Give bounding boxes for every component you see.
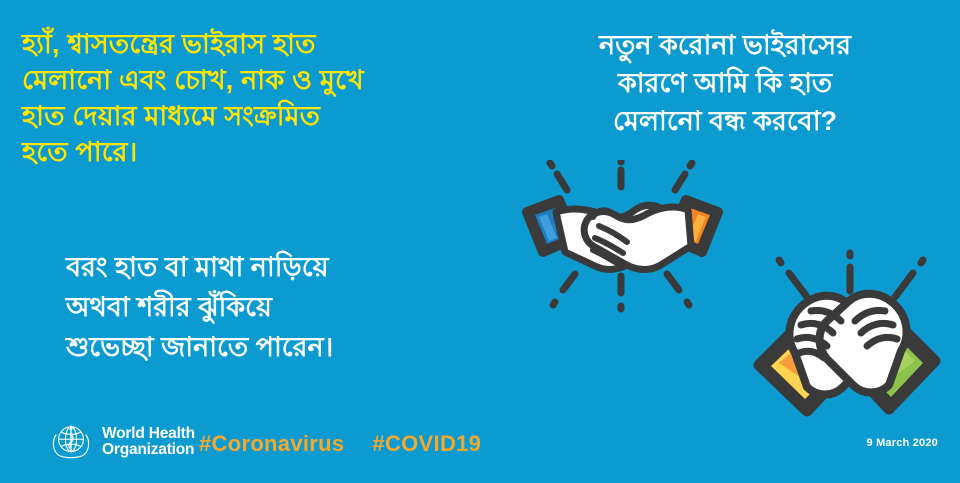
date-stamp: 9 March 2020 — [867, 437, 939, 449]
question-heading: নতুন করোনা ভাইরাসের কারণে আমি কি হাত মেল… — [500, 26, 950, 140]
who-wordmark-line-1: World Health — [102, 426, 195, 443]
answer-line-3: হাত দেয়ার মাধ্যমে সংক্রমিত — [22, 98, 472, 134]
handshake-icon — [515, 160, 730, 320]
hashtags: #Coronavirus #COVID19 — [199, 431, 481, 457]
who-wordmark: World Health Organization — [102, 426, 195, 459]
answer-line-2: মেলানো এবং চোখ, নাক ও মুখে — [22, 62, 472, 98]
advice-line-3: শুভেচ্ছা জানাতে পারেন। — [66, 327, 496, 367]
who-emblem-icon — [48, 419, 94, 465]
question-line-3: মেলানো বন্ধ করবো? — [500, 102, 950, 140]
answer-line-1: হ্যাঁ, শ্বাসতন্ত্রের ভাইরাস হাত — [22, 26, 472, 62]
who-covid-poster: হ্যাঁ, শ্বাসতন্ত্রের ভাইরাস হাত মেলানো এ… — [0, 0, 960, 483]
advice-line-2: অথবা শরীর ঝুঁকিয়ে — [66, 287, 496, 327]
clasped-hands-icon — [735, 225, 960, 420]
clasped-hands-motion-marks — [779, 253, 923, 297]
question-line-2: কারণে আমি কি হাত — [500, 64, 950, 102]
advice-line-1: বরং হাত বা মাথা নাড়িয়ে — [66, 247, 496, 287]
footer: World Health Organization #Coronavirus #… — [0, 405, 960, 483]
answer-line-4: হতে পারে। — [22, 134, 472, 170]
who-wordmark-line-2: Organization — [102, 442, 195, 459]
hashtag-coronavirus[interactable]: #Coronavirus — [199, 431, 344, 457]
who-logo: World Health Organization — [48, 419, 195, 465]
hashtag-covid19[interactable]: #COVID19 — [372, 431, 481, 457]
answer-text: হ্যাঁ, শ্বাসতন্ত্রের ভাইরাস হাত মেলানো এ… — [22, 26, 472, 170]
question-line-1: নতুন করোনা ভাইরাসের — [500, 26, 950, 64]
clasped-hands-shapes — [789, 294, 906, 395]
advice-text: বরং হাত বা মাথা নাড়িয়ে অথবা শরীর ঝুঁকি… — [66, 247, 496, 367]
